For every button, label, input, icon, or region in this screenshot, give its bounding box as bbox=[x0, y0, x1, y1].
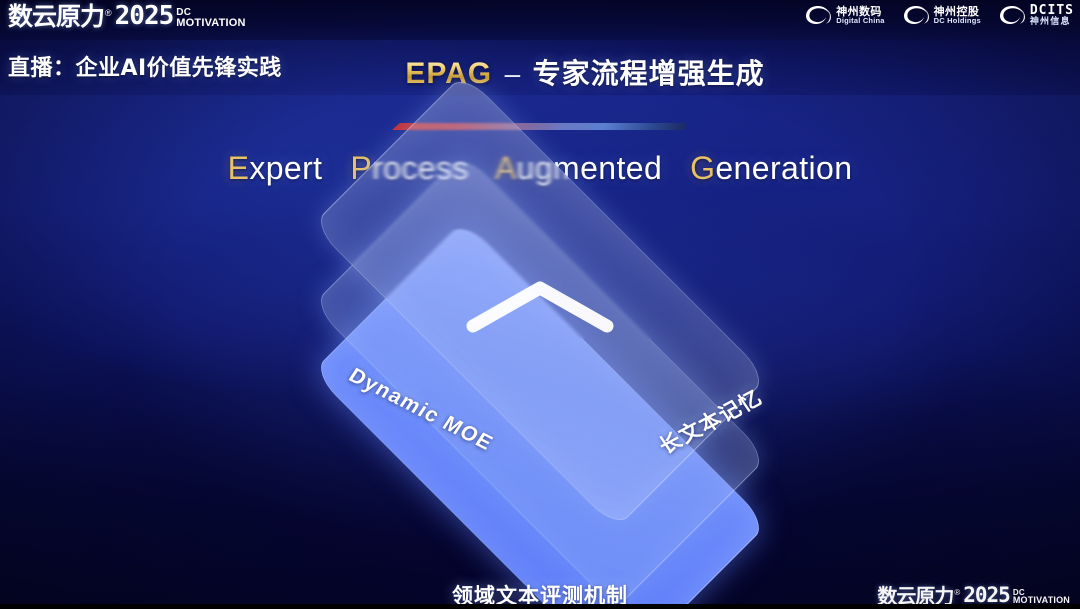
partner-logo-dc-holdings: 神州控股 DC Holdings bbox=[903, 4, 981, 26]
swirl-icon bbox=[903, 4, 929, 26]
footer-watermark: 数云原力 ® 2025 DC MOTIVATION bbox=[877, 585, 1070, 606]
bottom-edge-bar bbox=[0, 604, 1080, 609]
brand-logo-registered: ® bbox=[105, 9, 112, 18]
partner-logo-digital-china-en: Digital China bbox=[836, 17, 884, 25]
partner-logo-dcits-cn: 神州信息 bbox=[1030, 18, 1074, 27]
partner-logo-dcits: DCITS 神州信息 bbox=[999, 4, 1074, 27]
partner-logo-dcits-name: DCITS bbox=[1030, 4, 1074, 18]
slide-canvas: 数云原力 ® 2025 DC MOTIVATION 直播：企业AI价值先锋实践 … bbox=[0, 0, 1080, 609]
partner-logo-dc-holdings-en: DC Holdings bbox=[934, 17, 981, 25]
diagram-layer-top-plate bbox=[312, 73, 768, 529]
footer-watermark-chinese: 数云原力 bbox=[877, 586, 953, 606]
footer-watermark-year: 2025 bbox=[963, 585, 1010, 606]
diagram-layer-top[interactable] bbox=[325, 86, 755, 516]
main-title-dash: – bbox=[505, 58, 521, 89]
brand-logo-dc: DC MOTIVATION bbox=[176, 8, 245, 28]
brand-logo-chinese: 数云原力 bbox=[8, 4, 104, 29]
layered-architecture-diagram: 领域文本评测机制 Dynamic MOE 长文本记忆 三类语义建模模块 bbox=[270, 238, 810, 558]
subtitle-word-expert: Expert bbox=[228, 150, 323, 186]
footer-watermark-registered: ® bbox=[954, 589, 960, 597]
swirl-icon bbox=[805, 4, 831, 26]
footer-watermark-dc: DC MOTIVATION bbox=[1013, 589, 1070, 605]
brand-logo-year: 2025 bbox=[115, 3, 174, 29]
partner-logo-row: 神州数码 Digital China 神州控股 DC Holdings DCIT… bbox=[805, 4, 1074, 27]
brand-logo-dc-line2: MOTIVATION bbox=[176, 18, 245, 28]
brand-logo: 数云原力 ® 2025 DC MOTIVATION bbox=[8, 3, 246, 29]
swirl-icon bbox=[999, 4, 1025, 26]
partner-logo-digital-china: 神州数码 Digital China bbox=[805, 4, 884, 26]
